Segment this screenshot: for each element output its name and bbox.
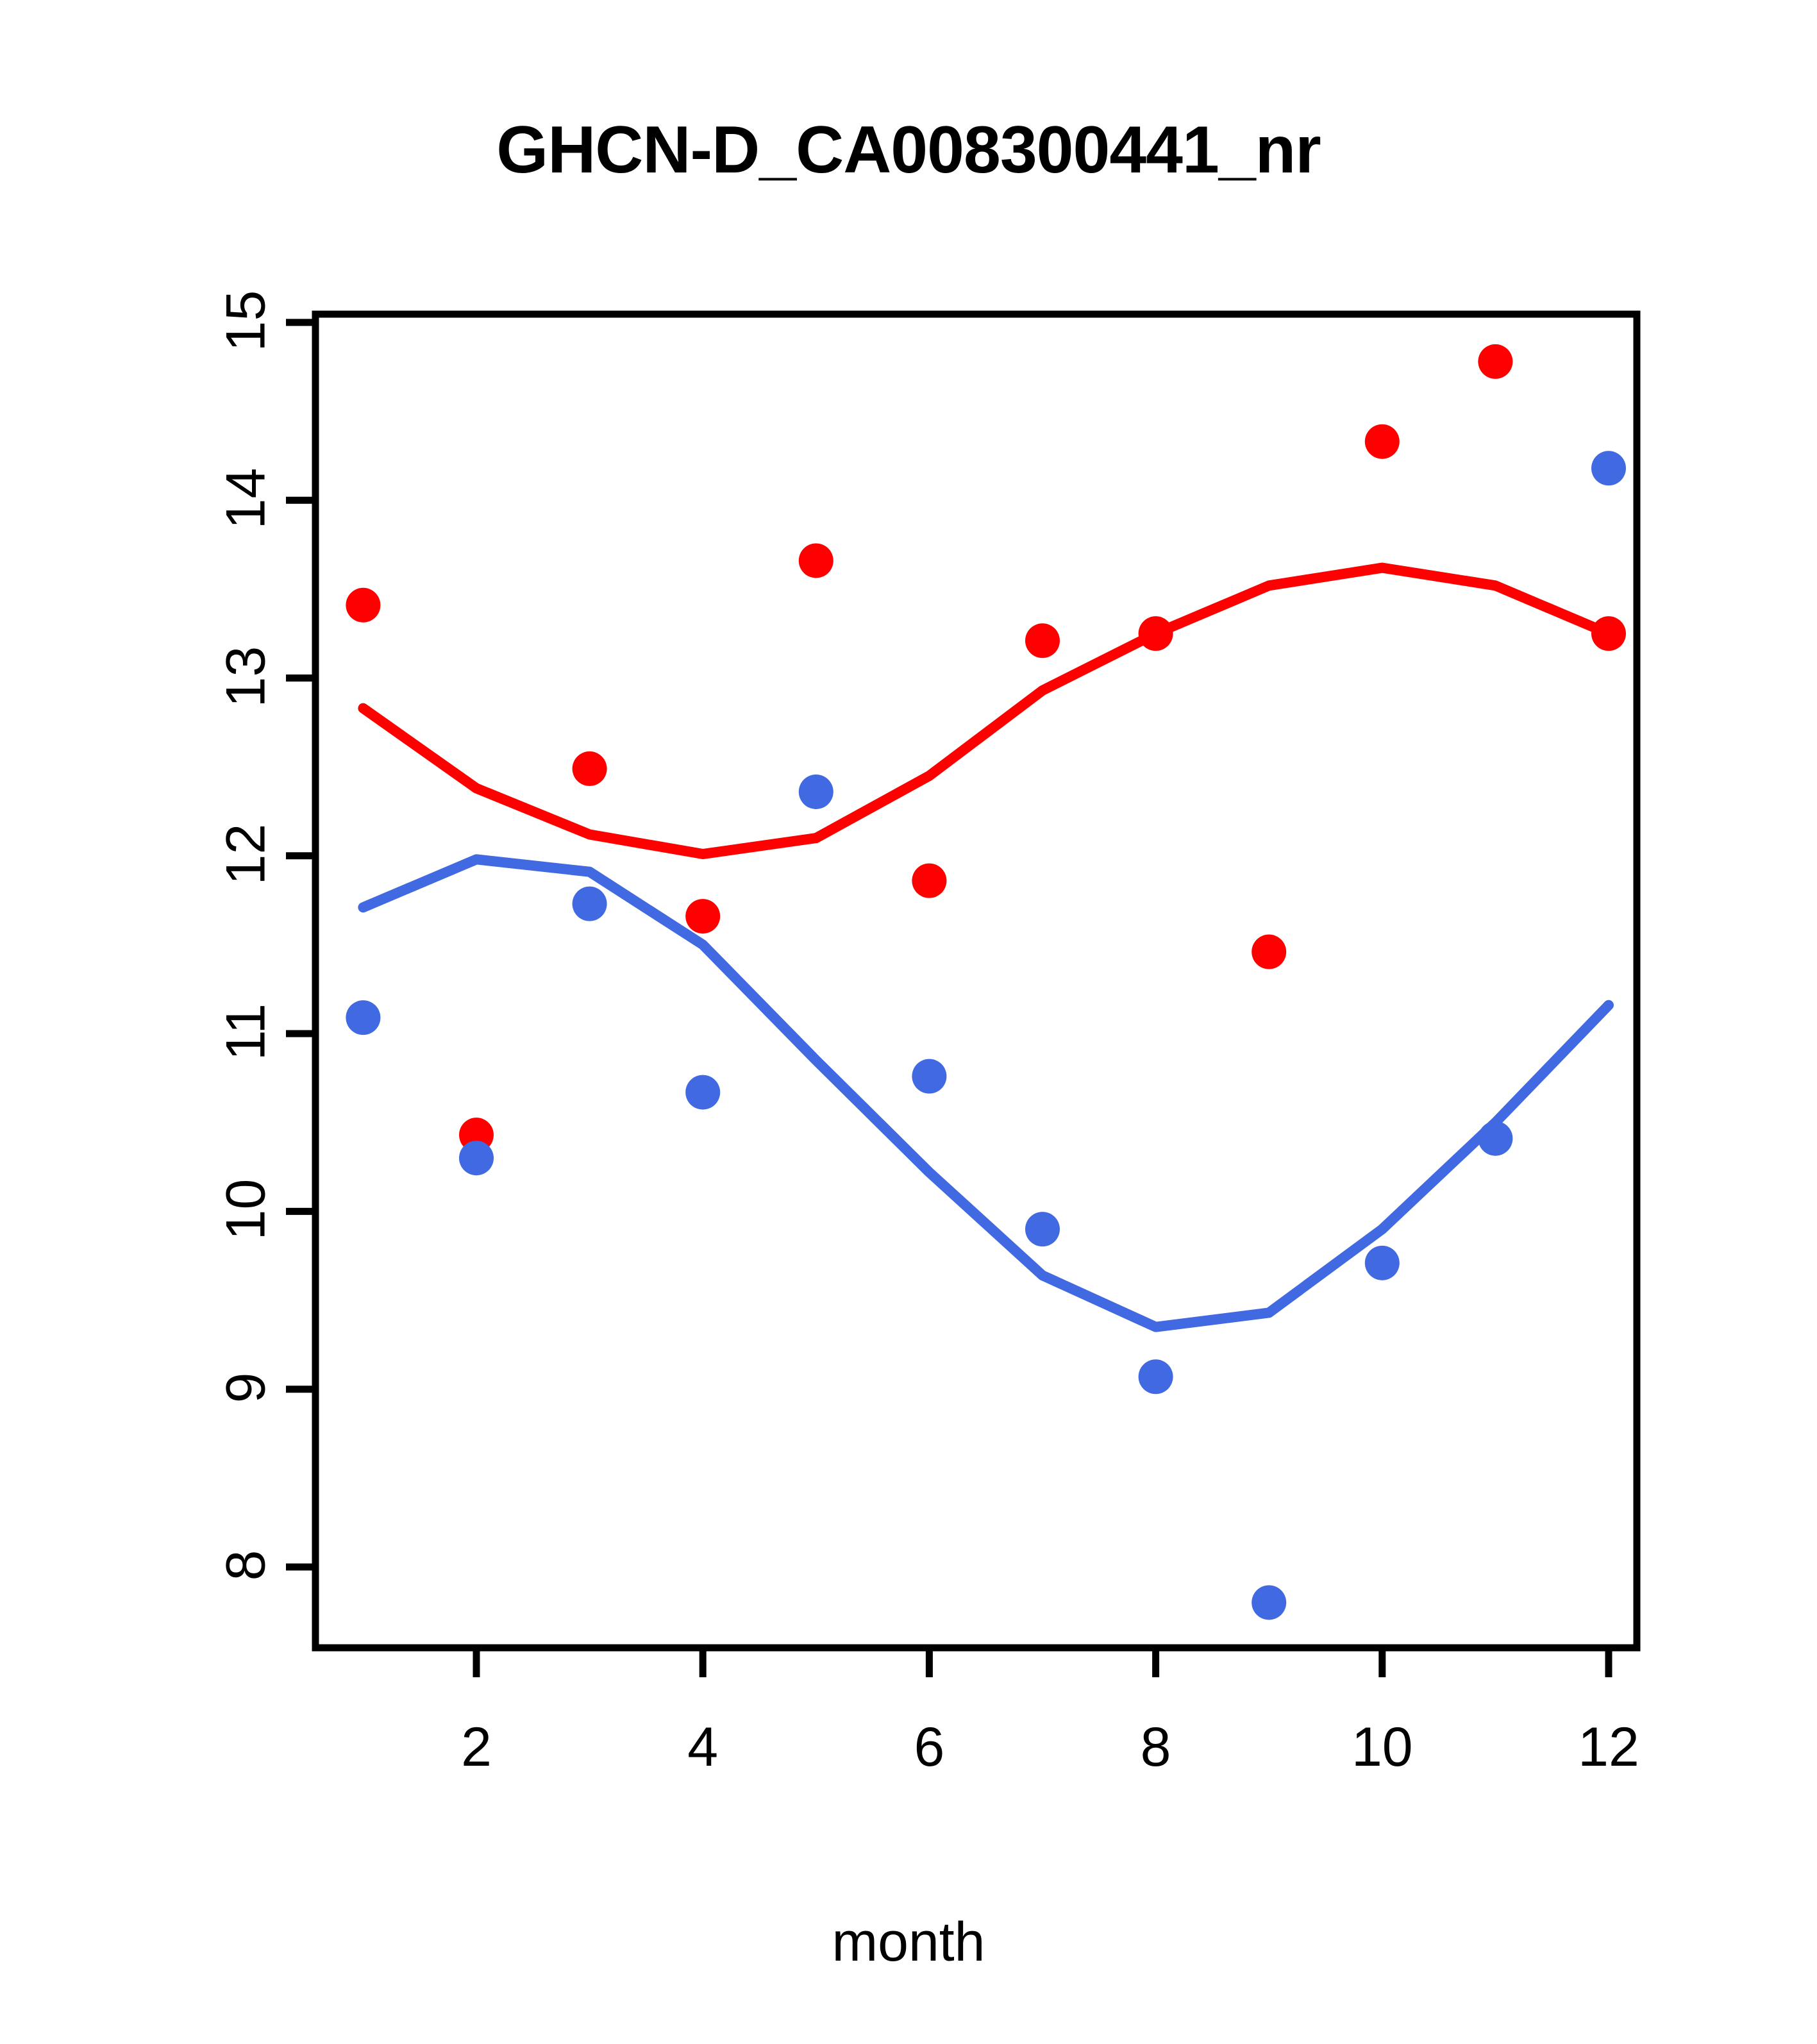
x-axis-label: month	[0, 1911, 1817, 1974]
x-axis-tick-label: 2	[412, 1716, 540, 1779]
series-points-group	[346, 344, 1626, 1620]
data-point-red-points	[799, 543, 833, 578]
y-axis-tick-label: 9	[215, 1336, 278, 1439]
x-axis-tick-label: 8	[1092, 1716, 1220, 1779]
chart-canvas: GHCN-D_CA008300441_nr 89101112131415 246…	[0, 0, 1817, 2044]
plot-box-border	[315, 314, 1637, 1648]
data-point-blue-points	[1365, 1246, 1400, 1280]
data-point-blue-points	[1139, 1359, 1173, 1394]
data-point-red-points	[685, 899, 720, 934]
data-point-blue-points	[1478, 1121, 1512, 1156]
data-point-blue-points	[1252, 1585, 1286, 1620]
series-line-red-line	[363, 568, 1609, 854]
data-point-red-points	[912, 864, 946, 898]
series-lines-group	[363, 568, 1609, 1327]
data-point-blue-points	[799, 775, 833, 809]
data-point-red-points	[1252, 935, 1286, 969]
data-point-red-points	[1139, 616, 1173, 651]
data-point-blue-points	[1591, 451, 1626, 485]
data-point-blue-points	[685, 1075, 720, 1110]
data-point-red-points	[346, 588, 380, 623]
data-point-red-points	[1591, 616, 1626, 651]
data-point-red-points	[573, 751, 607, 786]
y-axis-tick-label: 15	[215, 269, 278, 372]
data-point-blue-points	[573, 887, 607, 921]
series-line-blue-line	[363, 859, 1609, 1327]
axes-group	[286, 314, 1637, 1677]
y-axis-tick-label: 11	[215, 981, 278, 1084]
x-axis-tick-label: 10	[1318, 1716, 1446, 1779]
data-point-red-points	[1025, 623, 1060, 658]
data-point-blue-points	[1025, 1212, 1060, 1246]
y-axis-tick-label: 13	[215, 625, 278, 728]
y-axis-tick-label: 14	[215, 448, 278, 550]
x-axis-tick-label: 6	[865, 1716, 993, 1779]
y-axis-tick-label: 12	[215, 803, 278, 905]
y-axis-tick-label: 10	[215, 1159, 278, 1261]
y-axis-tick-label: 8	[215, 1514, 278, 1617]
data-point-red-points	[1478, 344, 1512, 379]
x-axis-tick-label: 4	[639, 1716, 767, 1779]
data-point-red-points	[1365, 424, 1400, 459]
data-point-blue-points	[459, 1141, 494, 1175]
x-axis-tick-label: 12	[1545, 1716, 1673, 1779]
data-point-blue-points	[912, 1059, 946, 1094]
data-point-blue-points	[346, 1000, 380, 1035]
